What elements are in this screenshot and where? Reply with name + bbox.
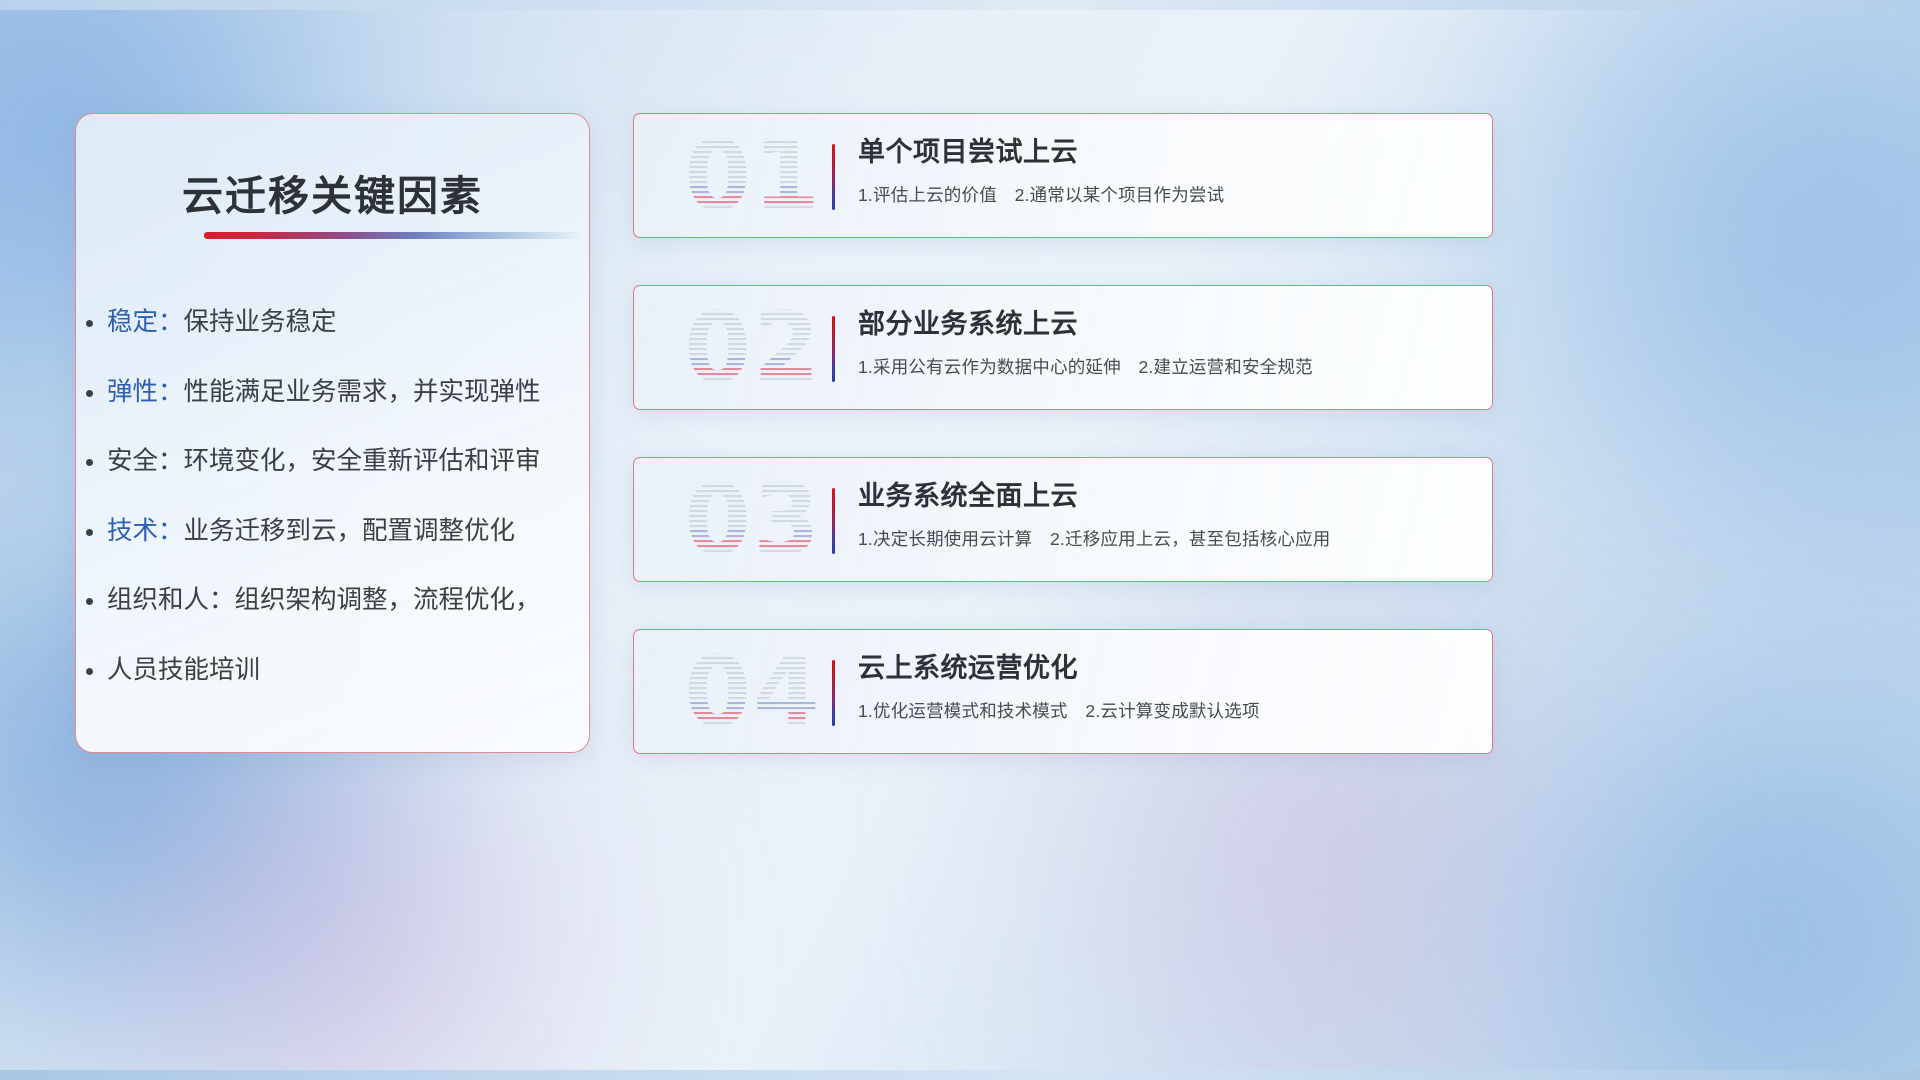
key-factor-text: 性能满足业务需求，并实现弹性 — [184, 378, 541, 406]
slide-content: 云迁移关键因素 稳定：保持业务稳定弹性：性能满足业务需求，并实现弹性安全：环境变… — [0, 0, 1920, 1080]
key-factor-item: 稳定：保持业务稳定 — [107, 310, 563, 336]
page-title: 云迁移关键因素 — [76, 162, 589, 222]
stage-card-title: 部分业务系统上云 — [858, 308, 1476, 340]
key-factor-label: 技术： — [107, 517, 184, 545]
stage-card-body: 业务系统全面上云1.决定长期使用云计算 2.迁移应用上云，甚至包括核心应用 — [858, 480, 1476, 551]
key-factor-item: 组织和人：组织架构调整，流程优化， — [107, 588, 563, 614]
key-factor-text: 业务迁移到云，配置调整优化 — [184, 517, 516, 545]
key-factor-label: 组织和人： — [107, 586, 235, 614]
key-factors-list: 稳定：保持业务稳定弹性：性能满足业务需求，并实现弹性安全：环境变化，安全重新评估… — [76, 310, 589, 683]
stage-card[interactable]: 01单个项目尝试上云1.评估上云的价值 2.通常以某个项目作为尝试 — [633, 113, 1493, 238]
stage-divider-bar — [832, 660, 835, 726]
key-factor-item: 人员技能培训 — [107, 658, 563, 684]
stage-card[interactable]: 02部分业务系统上云1.采用公有云作为数据中心的延伸 2.建立运营和安全规范 — [633, 285, 1493, 410]
stage-card-title: 单个项目尝试上云 — [858, 136, 1476, 168]
stage-divider-bar — [832, 316, 835, 382]
key-factor-item: 技术：业务迁移到云，配置调整优化 — [107, 519, 563, 545]
stage-number-watermark: 04 — [658, 638, 848, 746]
key-factor-item: 弹性：性能满足业务需求，并实现弹性 — [107, 380, 563, 406]
stage-card[interactable]: 04云上系统运营优化1.优化运营模式和技术模式 2.云计算变成默认选项 — [633, 629, 1493, 754]
key-factor-label: 弹性： — [107, 378, 184, 406]
stage-card-description: 1.采用公有云作为数据中心的延伸 2.建立运营和安全规范 — [858, 354, 1476, 379]
title-underline-gradient — [204, 232, 582, 239]
stage-card-description: 1.优化运营模式和技术模式 2.云计算变成默认选项 — [858, 698, 1476, 723]
stage-card-title: 业务系统全面上云 — [858, 480, 1476, 512]
key-factor-text: 保持业务稳定 — [184, 308, 337, 336]
key-factor-item: 安全：环境变化，安全重新评估和评审 — [107, 449, 563, 475]
stage-card-title: 云上系统运营优化 — [858, 652, 1476, 684]
key-factor-label: 安全： — [107, 447, 184, 475]
stage-number-watermark: 03 — [658, 466, 848, 574]
key-factor-text: 组织架构调整，流程优化， — [235, 586, 541, 614]
key-factors-panel: 云迁移关键因素 稳定：保持业务稳定弹性：性能满足业务需求，并实现弹性安全：环境变… — [75, 113, 590, 753]
key-factor-text: 环境变化，安全重新评估和评审 — [184, 447, 541, 475]
stage-card-description: 1.评估上云的价值 2.通常以某个项目作为尝试 — [858, 182, 1476, 207]
stage-card-body: 云上系统运营优化1.优化运营模式和技术模式 2.云计算变成默认选项 — [858, 652, 1476, 723]
key-factor-text: 人员技能培训 — [107, 656, 260, 684]
stage-card-body: 单个项目尝试上云1.评估上云的价值 2.通常以某个项目作为尝试 — [858, 136, 1476, 207]
stage-card-body: 部分业务系统上云1.采用公有云作为数据中心的延伸 2.建立运营和安全规范 — [858, 308, 1476, 379]
key-factor-label: 稳定： — [107, 308, 184, 336]
stage-divider-bar — [832, 488, 835, 554]
stage-card-description: 1.决定长期使用云计算 2.迁移应用上云，甚至包括核心应用 — [858, 526, 1476, 551]
stage-card[interactable]: 03业务系统全面上云1.决定长期使用云计算 2.迁移应用上云，甚至包括核心应用 — [633, 457, 1493, 582]
stage-divider-bar — [832, 144, 835, 210]
stage-number-watermark: 02 — [658, 294, 848, 402]
stage-number-watermark: 01 — [658, 122, 848, 230]
